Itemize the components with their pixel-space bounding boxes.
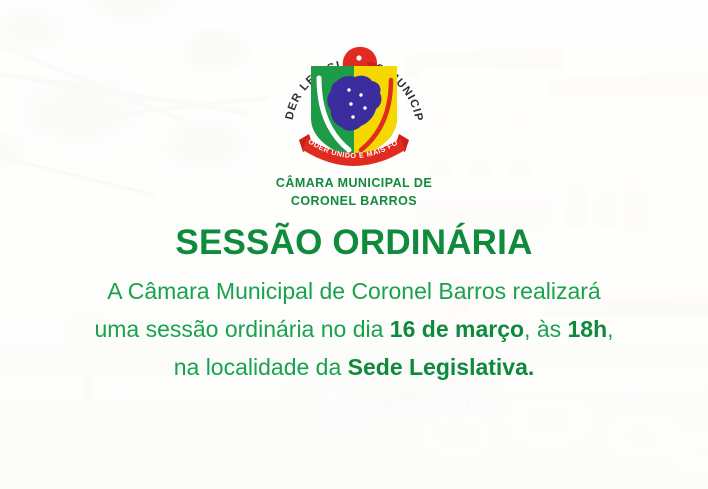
coat-of-arms-svg: PODER LEGISLATIVO MUNICIPAL	[279, 22, 429, 172]
poster-content: PODER LEGISLATIVO MUNICIPAL	[0, 0, 708, 489]
announcement-line-2-post: ,	[607, 316, 613, 342]
organization-line-2: CORONEL BARROS	[276, 192, 432, 210]
announcement-text: A Câmara Municipal de Coronel Barros rea…	[24, 272, 684, 386]
announcement-line-3-pre: na localidade da	[174, 354, 348, 380]
coat-of-arms: PODER LEGISLATIVO MUNICIPAL	[279, 22, 429, 172]
announcement-date: 16 de março	[390, 316, 524, 342]
announcement-line-2-mid: , às	[524, 316, 567, 342]
page-title: SESSÃO ORDINÁRIA	[175, 223, 532, 263]
announcement-place: Sede Legislativa.	[348, 354, 535, 380]
announcement-poster: CORONEL BARROS 16-03-1992 PODER LEGISLAT…	[0, 0, 708, 489]
announcement-time: 18h	[568, 316, 608, 342]
announcement-line-1: A Câmara Municipal de Coronel Barros rea…	[24, 272, 684, 310]
announcement-line-3: na localidade da Sede Legislativa.	[24, 348, 684, 386]
announcement-line-2-pre: uma sessão ordinária no dia	[94, 316, 389, 342]
organization-name: CÂMARA MUNICIPAL DE CORONEL BARROS	[276, 174, 432, 210]
announcement-line-2: uma sessão ordinária no dia 16 de março,…	[24, 310, 684, 348]
organization-line-1: CÂMARA MUNICIPAL DE	[276, 174, 432, 192]
